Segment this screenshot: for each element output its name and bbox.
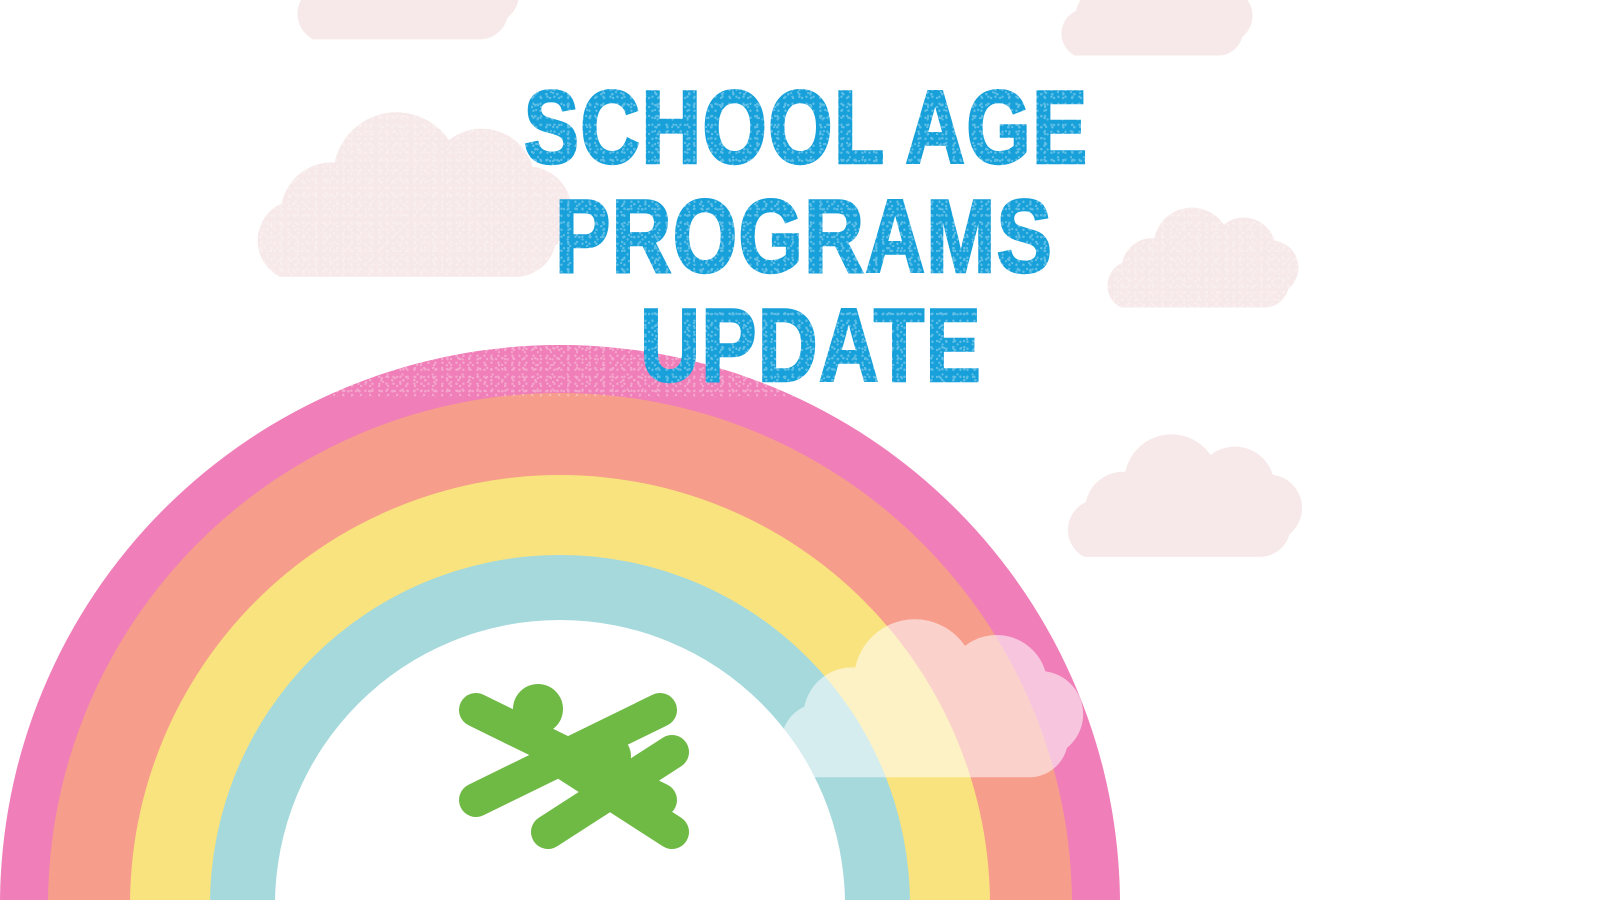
title-line-1: SCHOOL AGE <box>171 78 1441 179</box>
slide-canvas: SCHOOL AGE PROGRAMS UPDATE <box>0 0 1600 900</box>
title-texture-overlay <box>0 78 1600 397</box>
title-line-2: PROGRAMS <box>167 187 1441 288</box>
title-line-3: UPDATE <box>180 296 1442 397</box>
page-title: SCHOOL AGE PROGRAMS UPDATE <box>0 78 1600 397</box>
title-layer: SCHOOL AGE PROGRAMS UPDATE <box>0 0 1600 900</box>
